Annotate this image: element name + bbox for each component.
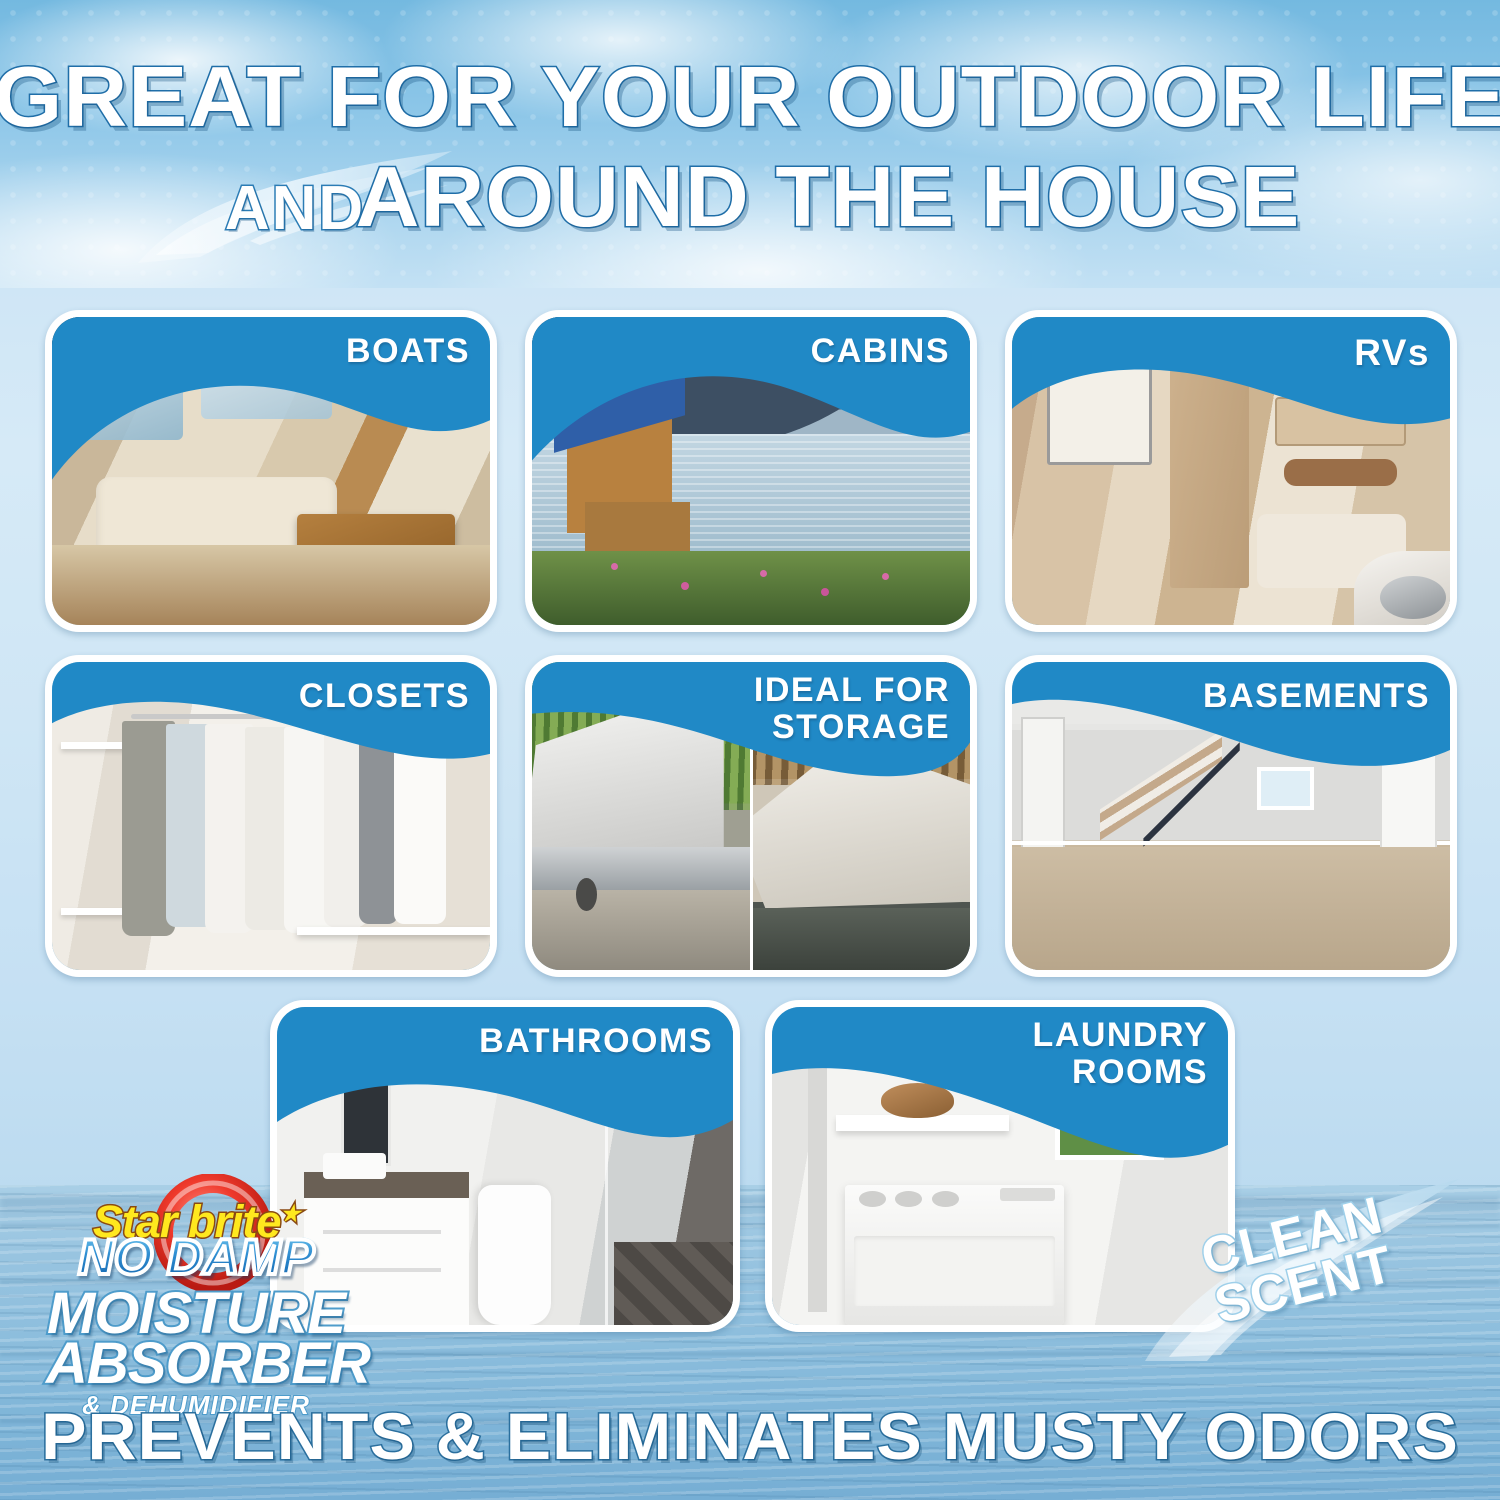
feature-card-rvs[interactable]: RVs bbox=[1005, 310, 1457, 632]
headline-block: GREAT FOR YOUR OUTDOOR LIFE bbox=[0, 0, 1500, 288]
card-label-laundry: LAUNDRY ROOMS bbox=[1033, 1017, 1208, 1092]
product-logo: Star brite★ NO DAMP MOISTURE ABSORBER & … bbox=[46, 1178, 346, 1393]
card-label-basements: BASEMENTS bbox=[1203, 678, 1430, 715]
feature-card-boats[interactable]: BOATS bbox=[45, 310, 497, 632]
feature-card-basements[interactable]: BASEMENTS bbox=[1005, 655, 1457, 977]
feature-card-cabins[interactable]: CABINS bbox=[525, 310, 977, 632]
card-label-bathrooms: BATHROOMS bbox=[479, 1023, 713, 1060]
headline-line-2: AROUND THE HOUSE bbox=[0, 152, 1500, 244]
card-label-boats: BOATS bbox=[346, 333, 470, 370]
product-name: NO DAMP bbox=[46, 1228, 346, 1286]
footer-tagline: PREVENTS & ELIMINATES MUSTY ODORS bbox=[0, 1398, 1500, 1474]
card-label-storage: IDEAL FOR STORAGE bbox=[754, 672, 950, 747]
feature-card-closets[interactable]: CLOSETS bbox=[45, 655, 497, 977]
headline-line-1: GREAT FOR YOUR OUTDOOR LIFE bbox=[0, 52, 1500, 144]
clean-scent-badge: CLEAN SCENT bbox=[1135, 1175, 1475, 1365]
card-label-closets: CLOSETS bbox=[299, 678, 470, 715]
card-label-cabins: CABINS bbox=[811, 333, 950, 370]
card-label-rvs: RVs bbox=[1354, 333, 1430, 374]
product-marketing-poster: GREAT FOR YOUR OUTDOOR LIFE bbox=[0, 0, 1500, 1500]
feature-card-storage[interactable]: IDEAL FOR STORAGE bbox=[525, 655, 977, 977]
product-line-2: ABSORBER bbox=[46, 1330, 346, 1397]
star-icon: ★ bbox=[280, 1201, 299, 1226]
